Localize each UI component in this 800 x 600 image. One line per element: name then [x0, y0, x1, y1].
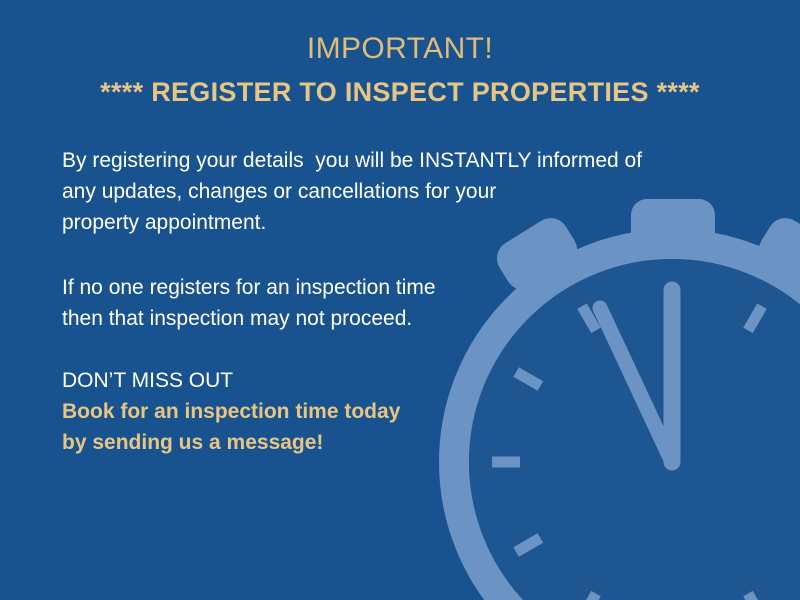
headline-block: IMPORTANT! **** REGISTER TO INSPECT PROP… [0, 30, 800, 112]
paragraph-no-registration-warning: If no one registers for an inspection ti… [62, 272, 582, 334]
cta-line-send-message: by sending us a message! [62, 427, 582, 458]
paragraph1-line3: property appointment. [62, 207, 742, 238]
slide-content: IMPORTANT! **** REGISTER TO INSPECT PROP… [0, 0, 800, 600]
cta-line-dont-miss-out: DON’T MISS OUT [62, 365, 582, 396]
paragraph2-line2: then that inspection may not proceed. [62, 303, 582, 334]
paragraph1-line1: By registering your details you will be … [62, 145, 742, 176]
cta-line-book-inspection: Book for an inspection time today [62, 396, 582, 427]
paragraph2-line1: If no one registers for an inspection ti… [62, 272, 582, 303]
slide-canvas: IMPORTANT! **** REGISTER TO INSPECT PROP… [0, 0, 800, 600]
page-subtitle: **** REGISTER TO INSPECT PROPERTIES **** [0, 72, 800, 112]
paragraph1-line2: any updates, changes or cancellations fo… [62, 176, 742, 207]
page-title: IMPORTANT! [0, 30, 800, 68]
paragraph-registering-details: By registering your details you will be … [62, 145, 742, 238]
call-to-action-block: DON’T MISS OUT Book for an inspection ti… [62, 365, 582, 458]
